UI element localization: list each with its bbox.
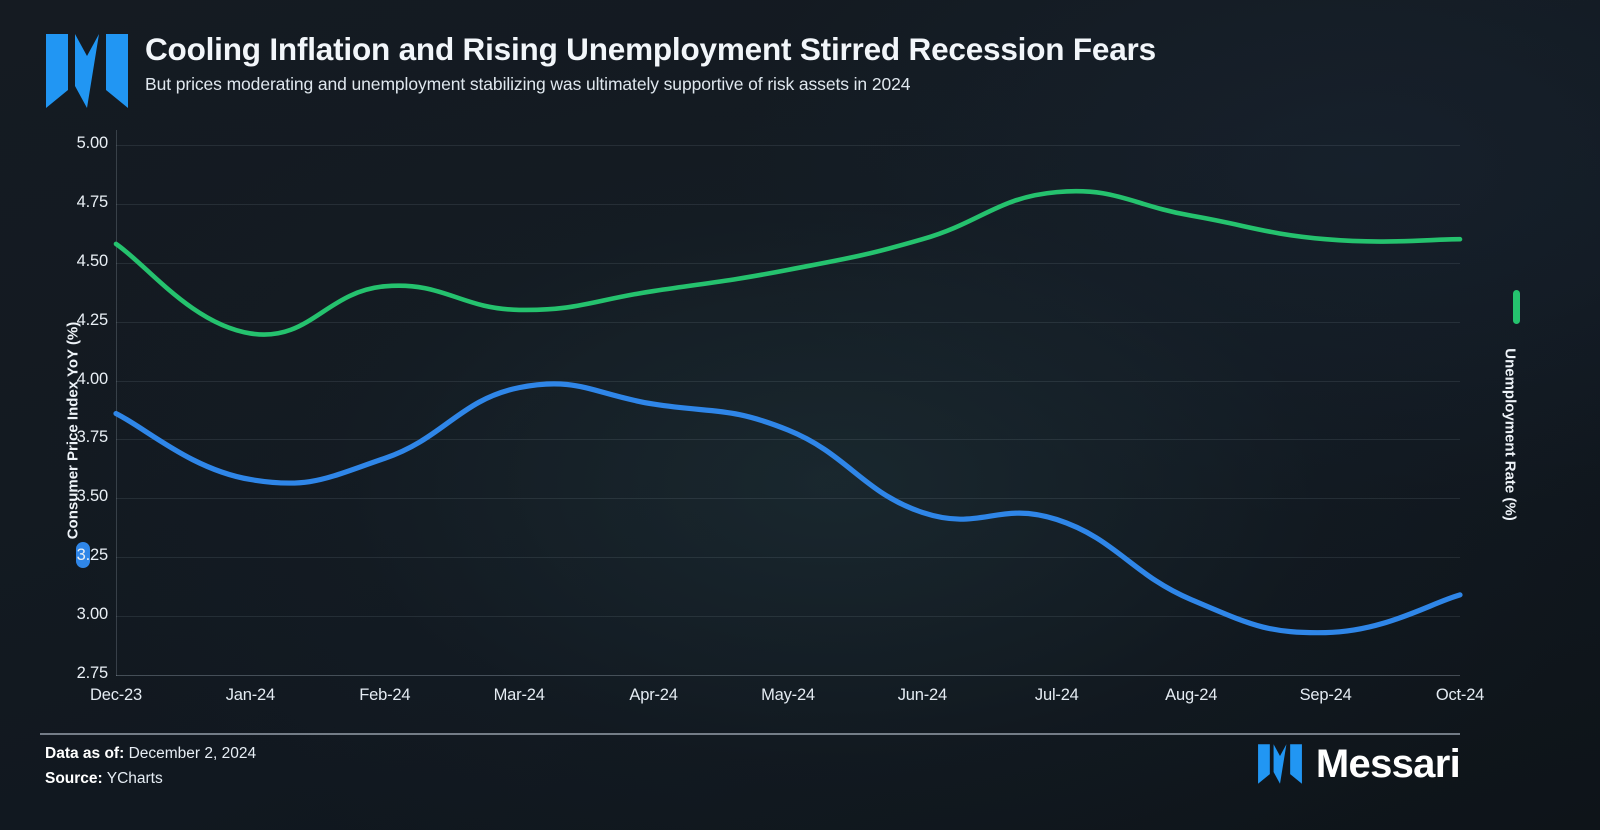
chart-canvas: Cooling Inflation and Rising Unemploymen… [0, 0, 1600, 830]
data-as-of-row: Data as of: December 2, 2024 [45, 741, 256, 766]
unemployment-rate-line [116, 191, 1460, 334]
source-value: YCharts [107, 770, 163, 787]
source-row: Source: YCharts [45, 766, 256, 791]
chart-header: Cooling Inflation and Rising Unemploymen… [40, 28, 1490, 120]
page-subtitle: But prices moderating and unemployment s… [145, 71, 1485, 97]
page-title: Cooling Inflation and Rising Unemploymen… [145, 28, 1485, 70]
plot-area: Consumer Price Index YoY (%) Unemploymen… [0, 130, 1600, 720]
data-as-of-value: December 2, 2024 [129, 745, 257, 762]
data-as-of-label: Data as of: [45, 745, 124, 762]
messari-m-logo-icon [44, 32, 130, 110]
title-block: Cooling Inflation and Rising Unemploymen… [145, 28, 1485, 97]
series-lines [0, 130, 1600, 720]
brand-lockup: Messari [1257, 742, 1460, 786]
brand-name: Messari [1316, 742, 1460, 786]
source-label: Source: [45, 770, 103, 787]
cpi-yoy-line [116, 384, 1460, 633]
messari-m-logo-icon [1257, 743, 1303, 785]
footer-divider [40, 733, 1460, 735]
chart-footer: Data as of: December 2, 2024 Source: YCh… [45, 741, 256, 791]
